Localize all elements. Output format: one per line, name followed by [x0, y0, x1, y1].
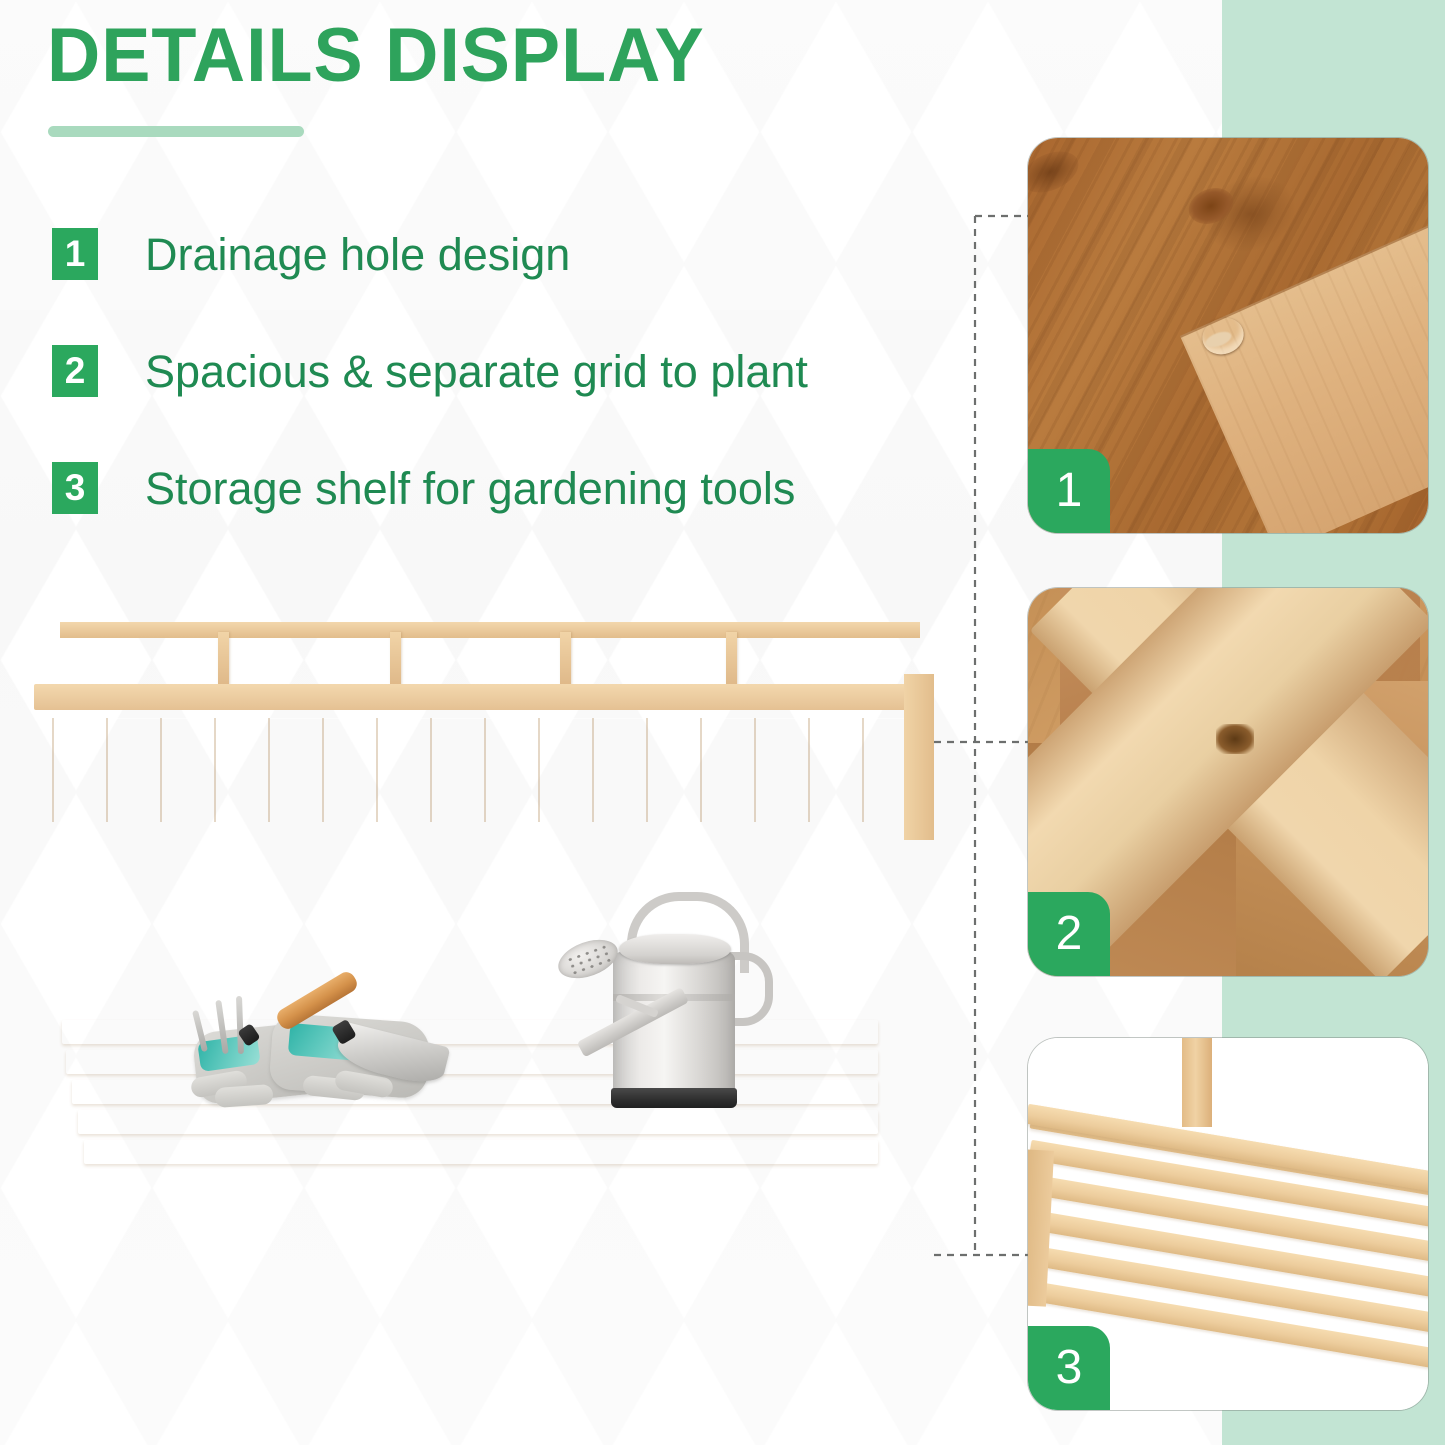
feature-item-2: 2 Spacious & separate grid to plant [52, 339, 952, 403]
planter-corner-post-left [28, 674, 58, 840]
feature-list: 1 Drainage hole design 2 Spacious & sepa… [52, 222, 952, 573]
shelf-front-rail [56, 1150, 902, 1172]
title-underline [48, 126, 304, 137]
product-image-raised-garden-bed [0, 600, 980, 1300]
feature-item-1: 1 Drainage hole design [52, 222, 952, 286]
detail-panel-3-badge: 3 [1028, 1326, 1110, 1410]
feature-item-3: 3 Storage shelf for gardening tools [52, 456, 952, 520]
leg-front-right [884, 840, 910, 1250]
detail-panel-1-badge: 1 [1028, 449, 1110, 533]
feature-badge-1: 1 [52, 228, 98, 280]
cultivator-tine-1 [192, 1010, 208, 1052]
detail-panel-1[interactable]: 1 [1028, 138, 1428, 533]
detail-panel-2-badge: 2 [1028, 892, 1110, 976]
feature-label-1: Drainage hole design [145, 232, 570, 277]
details-display-page: DETAILS DISPLAY 1 Drainage hole design 2… [0, 0, 1445, 1445]
detail-panel-3[interactable]: 3 [1028, 1038, 1428, 1410]
page-title: DETAILS DISPLAY [47, 18, 705, 94]
feature-badge-2: 2 [52, 345, 98, 397]
feature-badge-3: 3 [52, 462, 98, 514]
cultivator-tine-3 [236, 996, 244, 1054]
watering-can-base [611, 1088, 737, 1108]
gardening-tools-group [185, 982, 445, 1122]
planter-bottom-board [30, 828, 934, 844]
planter-corner-post-right [904, 674, 934, 840]
detail-panel-2[interactable]: 2 [1028, 588, 1428, 976]
feature-label-2: Spacious & separate grid to plant [145, 349, 808, 394]
watering-can [575, 890, 765, 1115]
feature-label-3: Storage shelf for gardening tools [145, 466, 795, 511]
leg-front-left [40, 840, 66, 1250]
watering-can-lid [619, 934, 731, 964]
planter-front-slats [52, 718, 914, 822]
